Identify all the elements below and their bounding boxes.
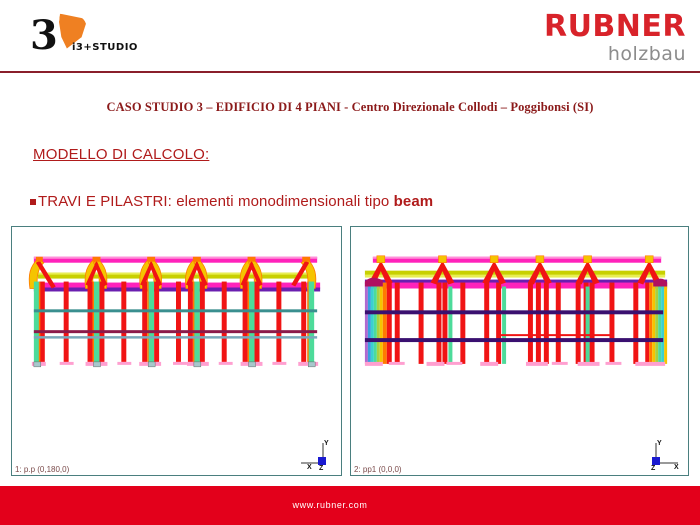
axis-label-z: Z xyxy=(651,465,656,471)
slide-footer: www.rubner.com xyxy=(0,486,700,525)
studio-logo-glyph: 3 xyxy=(30,16,56,56)
left-depth-band xyxy=(365,278,392,364)
structural-model-rear-view xyxy=(351,227,688,475)
bullet-square-icon xyxy=(30,199,36,205)
axis-label-x: X xyxy=(674,464,679,471)
slide-header: 3 i3+STUDIO RUBNER holzbau xyxy=(0,0,700,71)
rubner-logo: RUBNER holzbau xyxy=(544,12,686,65)
viewport-right-label: 2: pp1 (0,0,0) xyxy=(354,465,402,474)
rubner-brand-subtitle: holzbau xyxy=(544,44,686,65)
axis-indicator-right: X Y Z xyxy=(642,437,682,471)
support-group xyxy=(365,362,665,366)
header-divider xyxy=(0,71,700,73)
support-group xyxy=(32,362,320,367)
bullet-item: TRAVI E PILASTRI: elementi monodimension… xyxy=(30,193,433,210)
axis-indicator-left: X Y Z xyxy=(295,437,335,471)
viewport-left[interactable]: 1: p.p (0,180,0) X Y Z xyxy=(11,226,342,476)
section-heading: MODELLO DI CALCOLO: xyxy=(33,146,209,163)
rubner-brand-name: RUBNER xyxy=(544,12,686,42)
bullet-text-regular: TRAVI E PILASTRI: elementi monodimension… xyxy=(38,193,394,210)
column-group xyxy=(34,282,314,363)
bullet-item-label: TRAVI E PILASTRI: elementi monodimension… xyxy=(38,193,433,210)
page-title: CASO STUDIO 3 – EDIFICIO DI 4 PIANI - Ce… xyxy=(0,100,700,115)
axis-label-z: Z xyxy=(319,465,324,471)
structural-model-front-view xyxy=(12,227,341,475)
viewport-right[interactable]: 2: pp1 (0,0,0) X Y Z xyxy=(350,226,689,476)
viewport-left-label: 1: p.p (0,180,0) xyxy=(15,465,69,474)
bullet-text-emphasis: beam xyxy=(394,193,434,210)
axis-label-y: Y xyxy=(657,440,662,447)
footer-website-url[interactable]: www.rubner.com xyxy=(0,500,700,510)
axis-label-x: X xyxy=(307,464,312,471)
studio-logo: 3 i3+STUDIO xyxy=(28,14,153,60)
studio-logo-wordmark: i3+STUDIO xyxy=(72,42,138,53)
axis-label-y: Y xyxy=(324,440,329,447)
right-depth-band xyxy=(645,279,667,364)
column-group xyxy=(395,283,639,364)
